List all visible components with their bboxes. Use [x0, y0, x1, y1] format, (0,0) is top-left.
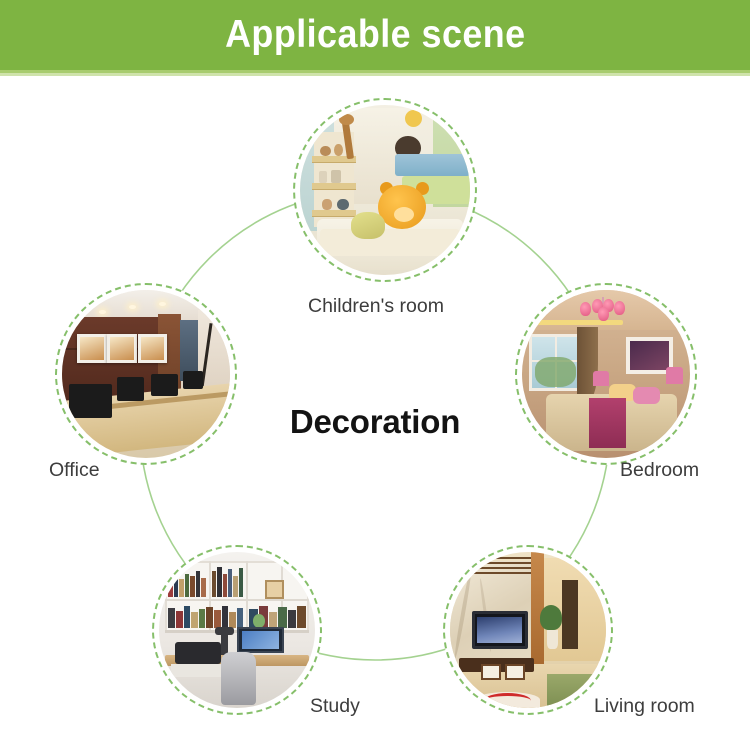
scene-children-room[interactable] [293, 98, 477, 282]
scene-label-living-room: Living room [594, 695, 695, 718]
header-banner: Applicable scene [0, 0, 750, 70]
scene-office-photo [62, 290, 230, 458]
scene-label-study: Study [310, 695, 360, 718]
scene-study-photo [159, 552, 315, 708]
header-divider-bottom [0, 73, 750, 76]
applicable-scene-page: Applicable scene Decoration [0, 0, 750, 750]
scene-bedroom-circle[interactable] [515, 283, 697, 465]
scene-label-bedroom: Bedroom [620, 459, 699, 482]
page-title: Applicable scene [225, 13, 526, 57]
scene-living-room-photo [450, 552, 606, 708]
scene-study-circle[interactable] [152, 545, 322, 715]
scene-study[interactable] [152, 545, 322, 715]
scene-label-children-room: Children's room [308, 295, 444, 318]
center-label: Decoration [255, 403, 495, 441]
scene-office[interactable] [55, 283, 237, 465]
scene-living-room-circle[interactable] [443, 545, 613, 715]
scene-children-room-photo [300, 105, 470, 275]
scene-living-room[interactable] [443, 545, 613, 715]
scene-bedroom-photo [522, 290, 690, 458]
scene-label-office: Office [49, 459, 100, 482]
scene-bedroom[interactable] [515, 283, 697, 465]
scene-children-room-circle[interactable] [293, 98, 477, 282]
scene-office-circle[interactable] [55, 283, 237, 465]
